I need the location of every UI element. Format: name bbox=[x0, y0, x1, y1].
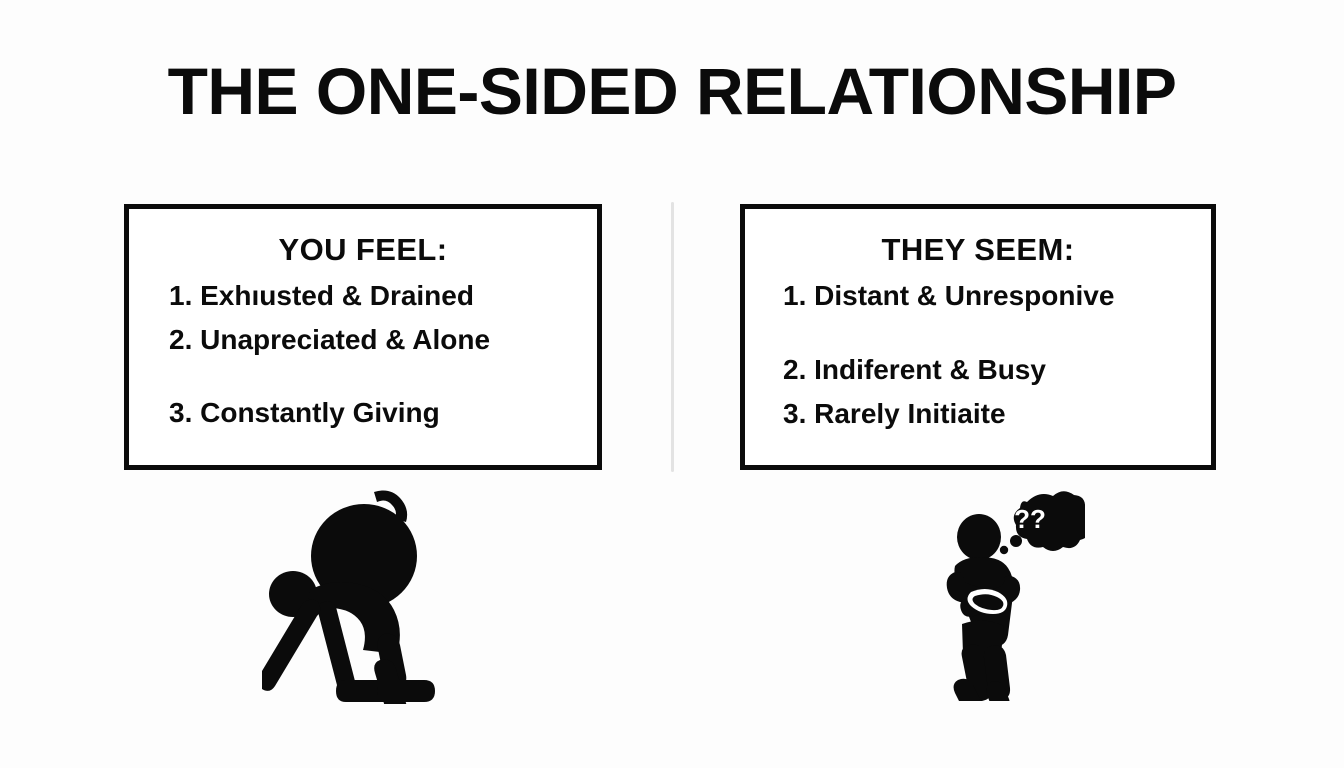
list-item: 3. Rarely Initiaite bbox=[783, 400, 1211, 428]
center-divider bbox=[671, 202, 674, 472]
list-item: 3. Constantly Giving bbox=[169, 399, 597, 427]
slide-canvas: THE ONE-SIDED RELATIONSHIP YOU FEEL: 1. … bbox=[0, 0, 1344, 768]
page-title: THE ONE-SIDED RELATIONSHIP bbox=[0, 58, 1344, 124]
thought-bubble-text: ?? bbox=[1014, 504, 1046, 534]
list-item: 2. Indiferent & Busy bbox=[783, 356, 1211, 384]
panel-left-heading: YOU FEEL: bbox=[129, 232, 597, 268]
list-item: 1. Distant & Unresponive bbox=[783, 282, 1211, 310]
panel-right-list: 1. Distant & Unresponive 2. Indiferent &… bbox=[745, 282, 1211, 428]
panel-you-feel: YOU FEEL: 1. Exhıusted & Drained 2. Unap… bbox=[124, 204, 602, 470]
panel-they-seem: THEY SEEM: 1. Distant & Unresponive 2. I… bbox=[740, 204, 1216, 470]
arms-crossed-person-with-thought-bubble-icon: ?? bbox=[915, 486, 1085, 701]
list-item: 2. Unapreciated & Alone bbox=[169, 326, 597, 354]
panel-left-list: 1. Exhıusted & Drained 2. Unapreciated &… bbox=[129, 282, 597, 427]
panel-right-heading: THEY SEEM: bbox=[745, 232, 1211, 268]
burdened-kneeling-person-icon bbox=[262, 484, 462, 704]
list-item: 1. Exhıusted & Drained bbox=[169, 282, 597, 310]
